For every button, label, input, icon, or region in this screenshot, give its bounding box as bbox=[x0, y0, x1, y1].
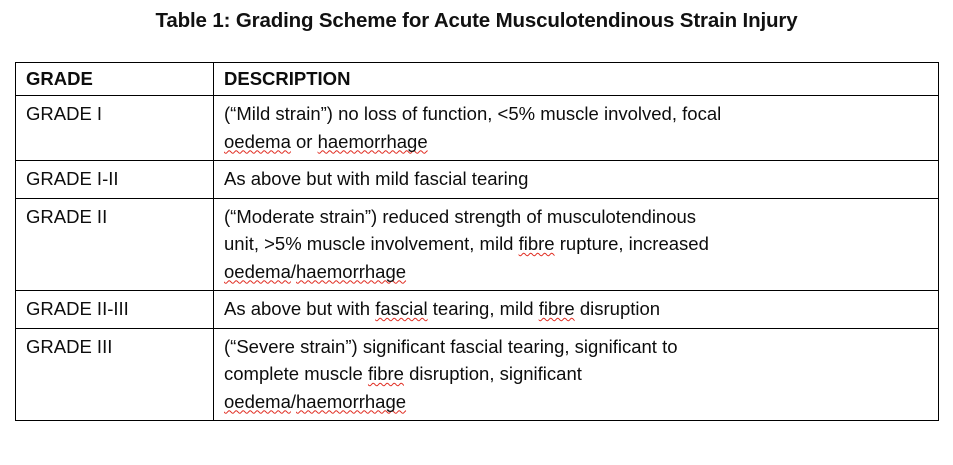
description-line: (“Moderate strain”) reduced strength of … bbox=[224, 203, 930, 231]
table-row: GRADE II-IIIAs above but with fascial te… bbox=[16, 291, 939, 329]
spellcheck-misspelled-word: haemorrhage bbox=[318, 131, 428, 152]
cell-description: (“Mild strain”) no loss of function, <5%… bbox=[214, 96, 939, 161]
description-line: unit, >5% muscle involvement, mild fibre… bbox=[224, 230, 930, 258]
description-line: complete muscle fibre disruption, signif… bbox=[224, 360, 930, 388]
table-header: GRADE DESCRIPTION bbox=[16, 63, 939, 96]
column-header-description: DESCRIPTION bbox=[214, 63, 939, 96]
spellcheck-misspelled-word: oedema bbox=[224, 391, 291, 412]
cell-grade: GRADE I-II bbox=[16, 161, 214, 199]
cell-grade: GRADE II bbox=[16, 198, 214, 291]
column-header-grade: GRADE bbox=[16, 63, 214, 96]
cell-grade: GRADE I bbox=[16, 96, 214, 161]
table-row: GRADE II(“Moderate strain”) reduced stre… bbox=[16, 198, 939, 291]
spellcheck-misspelled-word: fibre bbox=[519, 233, 555, 254]
grading-scheme-table: GRADE DESCRIPTION GRADE I(“Mild strain”)… bbox=[15, 62, 939, 421]
cell-grade: GRADE III bbox=[16, 328, 214, 421]
table-row: GRADE III(“Severe strain”) significant f… bbox=[16, 328, 939, 421]
description-line: As above but with fascial tearing, mild … bbox=[224, 295, 930, 323]
page-title: Table 1: Grading Scheme for Acute Muscul… bbox=[0, 9, 953, 33]
description-line: As above but with mild fascial tearing bbox=[224, 165, 930, 193]
spellcheck-misspelled-word: fibre bbox=[368, 363, 404, 384]
cell-description: As above but with fascial tearing, mild … bbox=[214, 291, 939, 329]
description-line: oedema/haemorrhage bbox=[224, 258, 930, 286]
spellcheck-misspelled-word: haemorrhage bbox=[296, 261, 406, 282]
document-page: Table 1: Grading Scheme for Acute Muscul… bbox=[0, 0, 953, 465]
spellcheck-misspelled-word: fibre bbox=[539, 298, 575, 319]
description-line: (“Severe strain”) significant fascial te… bbox=[224, 333, 930, 361]
cell-description: (“Moderate strain”) reduced strength of … bbox=[214, 198, 939, 291]
description-line: oedema or haemorrhage bbox=[224, 128, 930, 156]
table-row: GRADE I-IIAs above but with mild fascial… bbox=[16, 161, 939, 199]
spellcheck-misspelled-word: fascial bbox=[375, 298, 427, 319]
table-row: GRADE I(“Mild strain”) no loss of functi… bbox=[16, 96, 939, 161]
cell-grade: GRADE II-III bbox=[16, 291, 214, 329]
cell-description: As above but with mild fascial tearing bbox=[214, 161, 939, 199]
description-line: (“Mild strain”) no loss of function, <5%… bbox=[224, 100, 930, 128]
spellcheck-misspelled-word: haemorrhage bbox=[296, 391, 406, 412]
spellcheck-misspelled-word: oedema bbox=[224, 131, 291, 152]
table-body: GRADE I(“Mild strain”) no loss of functi… bbox=[16, 96, 939, 421]
cell-description: (“Severe strain”) significant fascial te… bbox=[214, 328, 939, 421]
description-line: oedema/haemorrhage bbox=[224, 388, 930, 416]
table-header-row: GRADE DESCRIPTION bbox=[16, 63, 939, 96]
spellcheck-misspelled-word: oedema bbox=[224, 261, 291, 282]
